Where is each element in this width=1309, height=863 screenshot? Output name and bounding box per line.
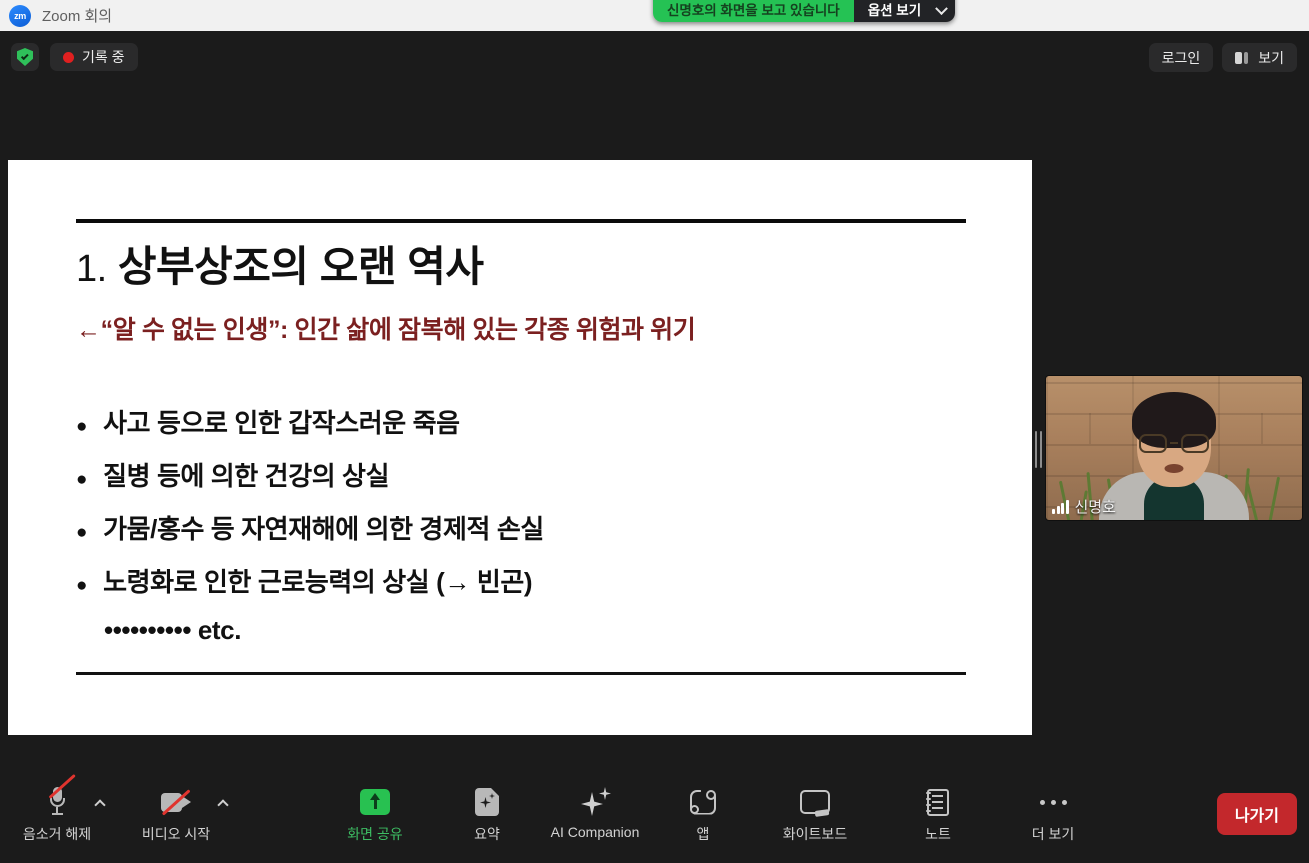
- participant-name: 신명호: [1075, 496, 1116, 517]
- list-item-text: 가뭄/홍수 등 자연재해에 의한 경제적 손실: [103, 509, 544, 546]
- slide-etc-line: •••••••••• etc.: [104, 615, 976, 646]
- top-right-actions: 로그인 보기: [1149, 43, 1297, 72]
- layout-view-icon: [1235, 52, 1250, 64]
- leave-meeting-button[interactable]: 나가기: [1217, 793, 1297, 835]
- slide-title: 1. 상부상조의 오랜 역사: [76, 233, 483, 294]
- list-item-text: 노령화로 인한 근로능력의 상실 (→ 빈곤): [103, 562, 532, 599]
- toolbar-item-more[interactable]: 더 보기: [1010, 785, 1096, 844]
- list-item: ● 가뭄/홍수 등 자연재해에 의한 경제적 손실: [76, 509, 976, 546]
- meeting-toolbar: 음소거 해제 비디오 시작 화면 공유 요약 AI: [0, 775, 1309, 863]
- toolbar-item-label: 화면 공유: [347, 824, 402, 844]
- bullet-dot-icon: ●: [76, 523, 87, 542]
- toolbar-item-label: 요약: [474, 824, 500, 844]
- toolbar-item-share-screen[interactable]: 화면 공유: [332, 785, 418, 844]
- view-options-dropdown[interactable]: 옵션 보기: [854, 0, 955, 22]
- toolbar-item-summary[interactable]: 요약: [444, 785, 530, 844]
- person-mouth: [1165, 464, 1184, 473]
- toolbar-item-ai-companion[interactable]: AI Companion: [552, 785, 638, 840]
- toolbar-item-label: 비디오 시작: [142, 824, 210, 844]
- ai-sparkles-icon: [579, 785, 611, 819]
- glasses-icon: [1139, 433, 1209, 453]
- audio-level-bars-icon: [1052, 500, 1069, 514]
- view-button-label: 보기: [1258, 48, 1284, 68]
- list-item-text: 사고 등으로 인한 갑작스러운 죽음: [103, 403, 460, 440]
- list-item: ● 질병 등에 의한 건강의 상실: [76, 456, 976, 493]
- list-item-text: 질병 등에 의한 건강의 상실: [103, 456, 389, 493]
- recording-label: 기록 중: [82, 47, 125, 67]
- notes-icon: [927, 785, 949, 819]
- toolbar-item-mute[interactable]: 음소거 해제: [14, 785, 100, 844]
- slide-bullet-list: ● 사고 등으로 인한 갑작스러운 죽음 ● 질병 등에 의한 건강의 상실 ●…: [76, 403, 976, 646]
- whiteboard-icon: [800, 785, 830, 819]
- security-shield-button[interactable]: [11, 43, 39, 71]
- summary-doc-icon: [475, 785, 499, 819]
- slide-title-text: 상부상조의 오랜 역사: [118, 243, 484, 290]
- toolbar-item-notes[interactable]: 노트: [895, 785, 981, 844]
- slide-subtitle: ←“알 수 없는 인생”: 인간 삶에 잠복해 있는 각종 위험과 위기: [76, 310, 695, 346]
- chevron-down-icon: [935, 2, 948, 15]
- microphone-muted-icon: [50, 785, 65, 819]
- recording-dot-icon: [63, 52, 74, 63]
- share-screen-icon: [360, 785, 390, 819]
- toolbar-item-apps[interactable]: 앱: [660, 785, 746, 844]
- recording-indicator[interactable]: 기록 중: [50, 43, 138, 71]
- toolbar-item-video[interactable]: 비디오 시작: [133, 785, 219, 844]
- more-dots-icon: [1040, 785, 1067, 819]
- slide-top-rule: [76, 219, 966, 223]
- participant-name-badge: 신명호: [1052, 496, 1116, 517]
- camera-off-icon: [161, 785, 191, 819]
- shared-screen-slide[interactable]: 1. 상부상조의 오랜 역사 ←“알 수 없는 인생”: 인간 삶에 잠복해 있…: [8, 160, 1032, 735]
- login-button[interactable]: 로그인: [1149, 43, 1214, 72]
- bullet-dot-icon: ●: [76, 417, 87, 436]
- toolbar-item-label: 더 보기: [1032, 824, 1075, 844]
- slide-title-number: 1.: [76, 248, 107, 290]
- window-title: Zoom 회의: [42, 5, 112, 26]
- bullet-dot-icon: ●: [76, 470, 87, 489]
- toolbar-item-label: AI Companion: [551, 824, 640, 840]
- audio-options-caret-icon[interactable]: [94, 799, 105, 810]
- view-layout-button[interactable]: 보기: [1222, 43, 1297, 72]
- login-button-label: 로그인: [1162, 48, 1201, 68]
- toolbar-item-label: 앱: [697, 824, 710, 844]
- participant-video-tile[interactable]: 신명호: [1046, 376, 1302, 520]
- bullet-dot-icon: ●: [76, 576, 87, 595]
- toolbar-item-label: 노트: [925, 824, 951, 844]
- video-options-caret-icon[interactable]: [217, 799, 228, 810]
- drag-handle-icon[interactable]: [1034, 431, 1043, 468]
- share-banner-message: 신명호의 화면을 보고 있습니다: [653, 0, 854, 22]
- meeting-top-bar: 기록 중 로그인 보기: [0, 31, 1309, 86]
- list-item: ● 사고 등으로 인한 갑작스러운 죽음: [76, 403, 976, 440]
- view-options-label: 옵션 보기: [868, 0, 921, 22]
- slide-bottom-rule: [76, 672, 966, 675]
- screen-share-banner: 신명호의 화면을 보고 있습니다 옵션 보기: [653, 0, 955, 22]
- shield-check-icon: [17, 48, 33, 66]
- zoom-meeting-window: zm Zoom 회의 기록 중 로그인 보기 신명호의 화면을 보고 있습니다 …: [0, 0, 1309, 863]
- zoom-logo-icon: zm: [9, 5, 31, 27]
- toolbar-item-label: 음소거 해제: [23, 824, 91, 844]
- list-item: ● 노령화로 인한 근로능력의 상실 (→ 빈곤): [76, 562, 976, 599]
- toolbar-item-whiteboard[interactable]: 화이트보드: [772, 785, 858, 844]
- apps-icon: [690, 785, 716, 819]
- toolbar-item-label: 화이트보드: [783, 824, 847, 844]
